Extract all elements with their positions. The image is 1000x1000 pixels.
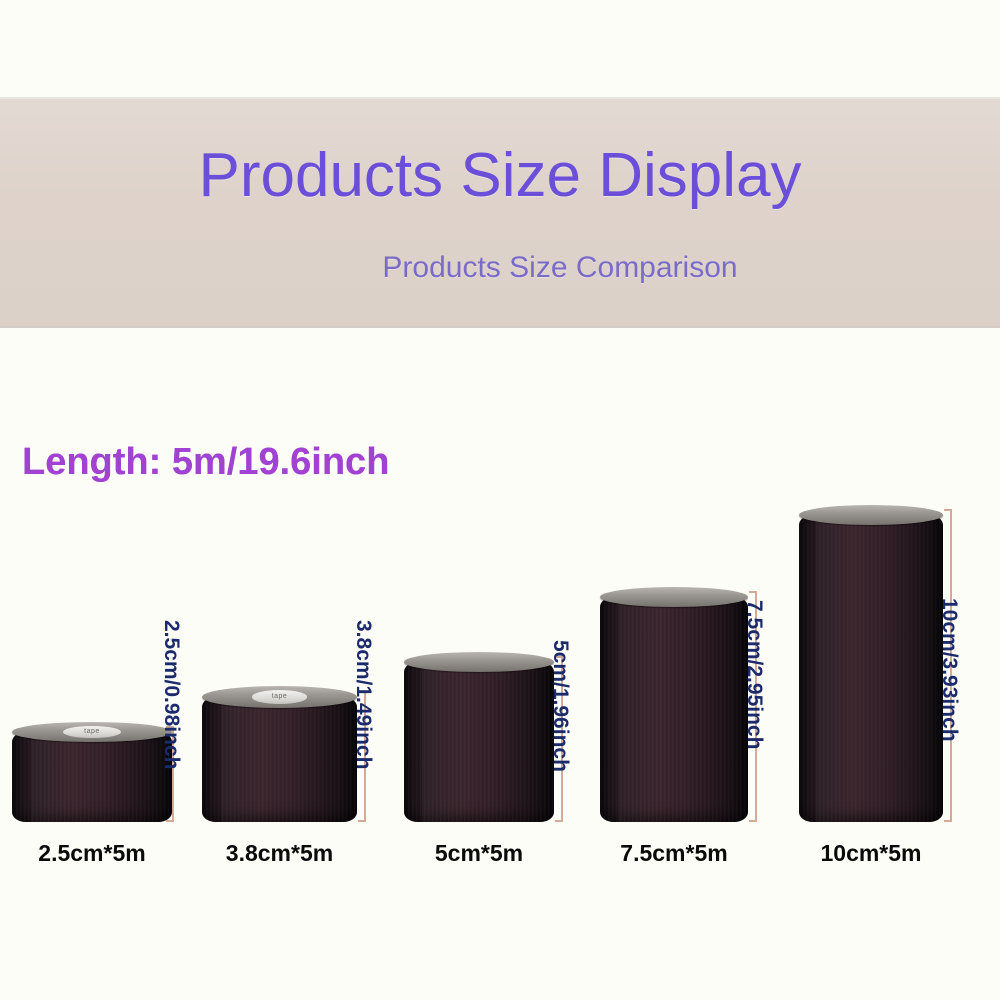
roll-top-rim xyxy=(799,505,943,525)
roll-core-hole: tape xyxy=(63,726,121,738)
roll-highlight xyxy=(816,515,865,822)
roll-texture xyxy=(404,662,554,822)
roll-texture xyxy=(202,697,357,822)
roll-caption: 5cm*5m xyxy=(404,840,554,866)
roll-core-label: tape xyxy=(63,726,121,738)
roll-caption: 3.8cm*5m xyxy=(202,840,357,866)
roll-highlight xyxy=(618,597,668,822)
roll-caption: 10cm*5m xyxy=(799,840,943,866)
dimension-label: 3.8cm/1.49inch xyxy=(353,620,374,769)
roll-highlight xyxy=(422,662,473,822)
dimension-label: 10cm/3.93inch xyxy=(939,598,960,742)
roll-caption: 7.5cm*5m xyxy=(600,840,748,866)
product-size-comparison: tape2.5cm/0.98inch2.5cm*5mtape3.8cm/1.49… xyxy=(0,0,1000,1000)
dimension-label: 2.5cm/0.98inch xyxy=(161,620,182,769)
roll-10cm xyxy=(799,515,943,822)
roll-2-5cm xyxy=(12,732,172,822)
roll-texture xyxy=(799,515,943,822)
dimension-label: 5cm/1.96inch xyxy=(550,640,571,772)
roll-7-5cm xyxy=(600,597,748,822)
roll-top-rim xyxy=(404,652,554,672)
dimension-label: 7.5cm/2.95inch xyxy=(744,600,765,749)
roll-highlight xyxy=(31,732,85,822)
roll-5cm xyxy=(404,662,554,822)
roll-core-hole: tape xyxy=(252,690,308,704)
roll-highlight xyxy=(221,697,274,822)
roll-texture xyxy=(12,732,172,822)
roll-3-8cm xyxy=(202,697,357,822)
roll-texture xyxy=(600,597,748,822)
roll-top-rim xyxy=(600,587,748,607)
roll-core-label: tape xyxy=(252,690,308,704)
roll-caption: 2.5cm*5m xyxy=(12,840,172,866)
